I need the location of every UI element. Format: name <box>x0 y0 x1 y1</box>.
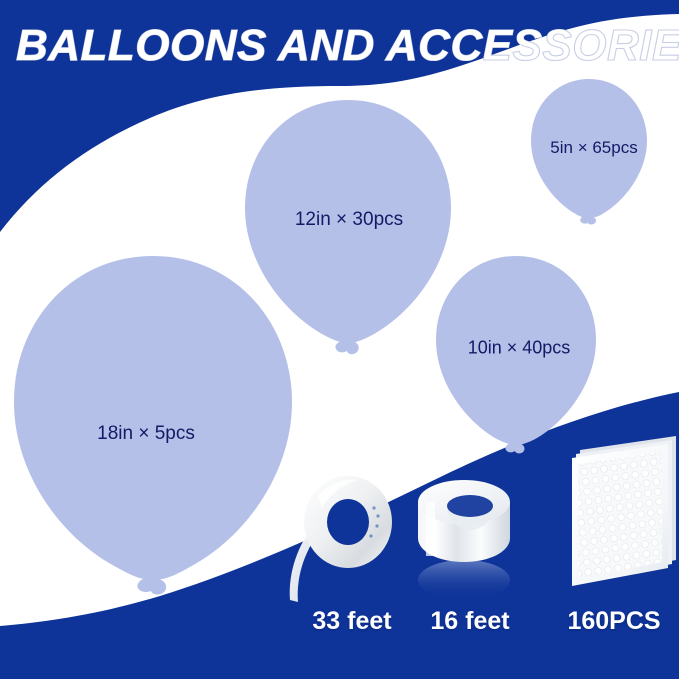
glue-dots-label: 160PCS <box>567 607 660 636</box>
balloon-10in: 10in × 40pcs <box>432 252 600 458</box>
balloon-5in-label: 5in × 65pcs <box>550 138 637 158</box>
product-image: BALLOONS AND ACCESSORIES BALLOONS AND AC… <box>0 0 679 679</box>
tape-roll-label: 16 feet <box>430 607 509 636</box>
balloon-5in: 5in × 65pcs <box>527 76 651 228</box>
tape-roll-highlight <box>426 502 435 556</box>
tape-roll <box>404 472 536 602</box>
balloon-12in-knot <box>335 340 358 354</box>
tape-roll-reflection <box>418 560 510 600</box>
ribbon-roll-label: 33 feet <box>312 607 391 636</box>
balloon-18in-label: 18in × 5pcs <box>97 423 195 445</box>
balloon-10in-label: 10in × 40pcs <box>468 338 571 359</box>
ribbon-roll-hole <box>327 499 369 545</box>
glue-dots-unit: PCS <box>609 607 660 635</box>
glue-dots-count: 160 <box>567 607 609 635</box>
glue-dots <box>556 432 679 592</box>
balloon-12in: 12in × 30pcs <box>240 96 456 358</box>
tape-roll-hole <box>447 495 493 517</box>
balloon-12in-label: 12in × 30pcs <box>295 209 403 231</box>
